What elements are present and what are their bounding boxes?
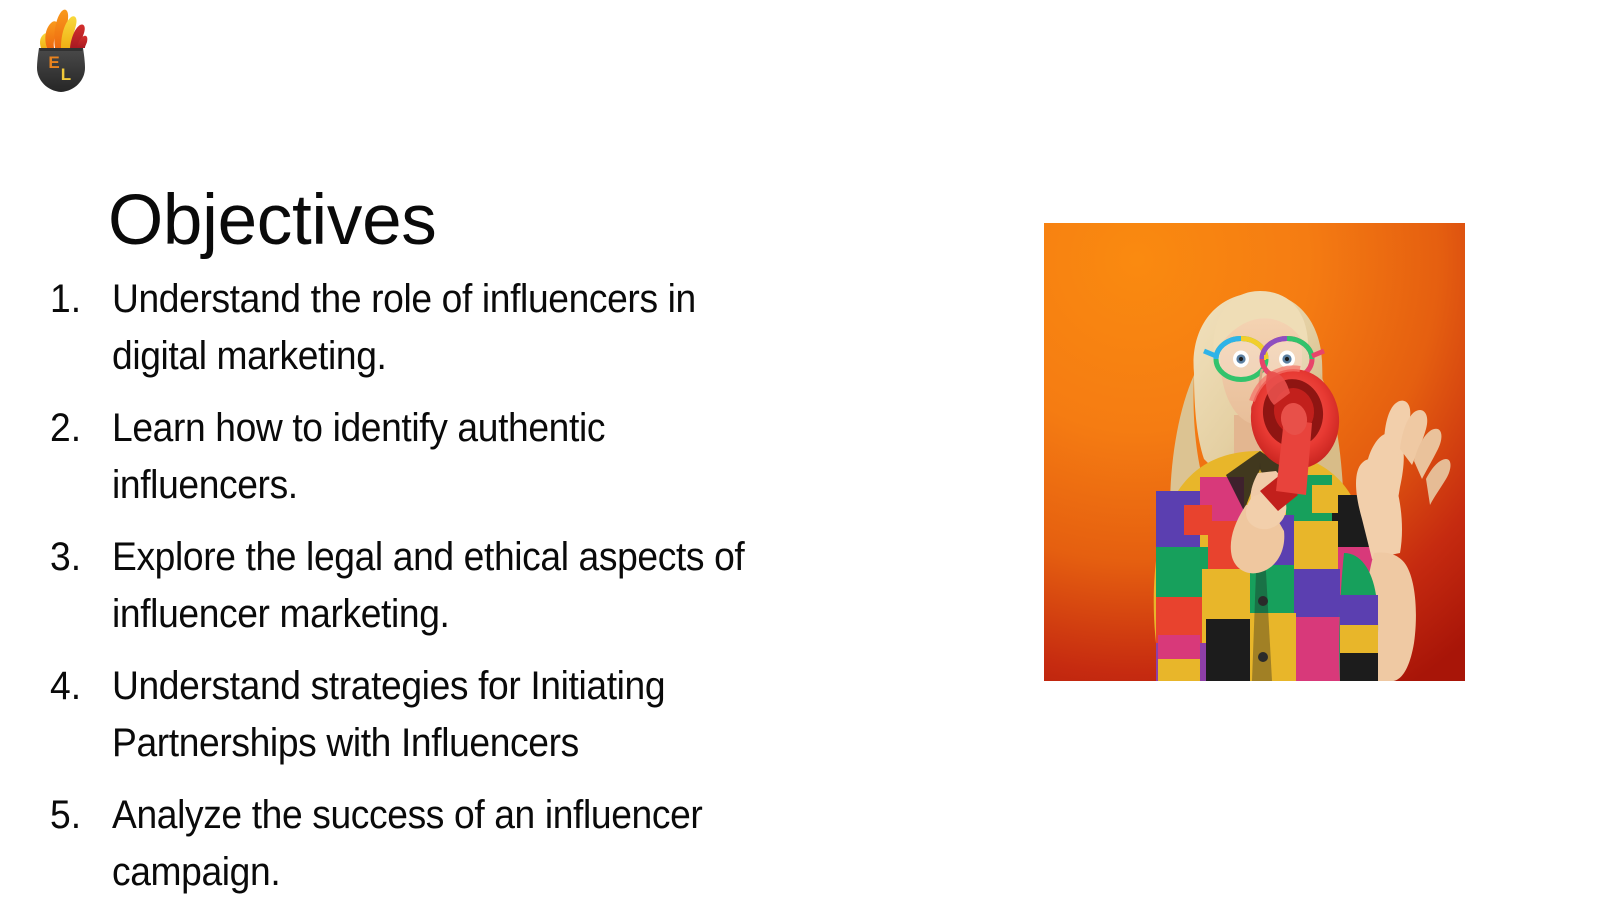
list-item-number: 3. [50,529,108,586]
list-item-text: Analyze the success of an influencer cam… [112,787,789,901]
list-item: 4. Understand strategies for Initiating … [50,658,840,772]
el-flame-logo: E L [30,6,92,96]
list-item-number: 1. [50,271,108,328]
page-title: Objectives [108,179,436,263]
woman-with-megaphone-photo [1044,223,1465,681]
list-item-text: Explore the legal and ethical aspects of… [112,529,789,643]
flame-icon [40,10,87,48]
objectives-list: 1. Understand the role of influencers in… [50,271,840,901]
list-item: 1. Understand the role of influencers in… [50,271,840,385]
logo-letter-l: L [61,65,71,84]
slide-canvas: E L Objectives 1. Understand the role of… [0,0,1600,900]
list-item: 5. Analyze the success of an influencer … [50,787,840,901]
list-item-number: 5. [50,787,108,844]
list-item: 3. Explore the legal and ethical aspects… [50,529,840,643]
list-item-number: 4. [50,658,108,715]
list-item-text: Understand the role of influencers in di… [112,271,789,385]
list-item-text: Understand strategies for Initiating Par… [112,658,789,772]
list-item-text: Learn how to identify authentic influenc… [112,400,789,514]
list-item-number: 2. [50,400,108,457]
list-item: 2. Learn how to identify authentic influ… [50,400,840,514]
logo-letter-e: E [48,53,59,72]
